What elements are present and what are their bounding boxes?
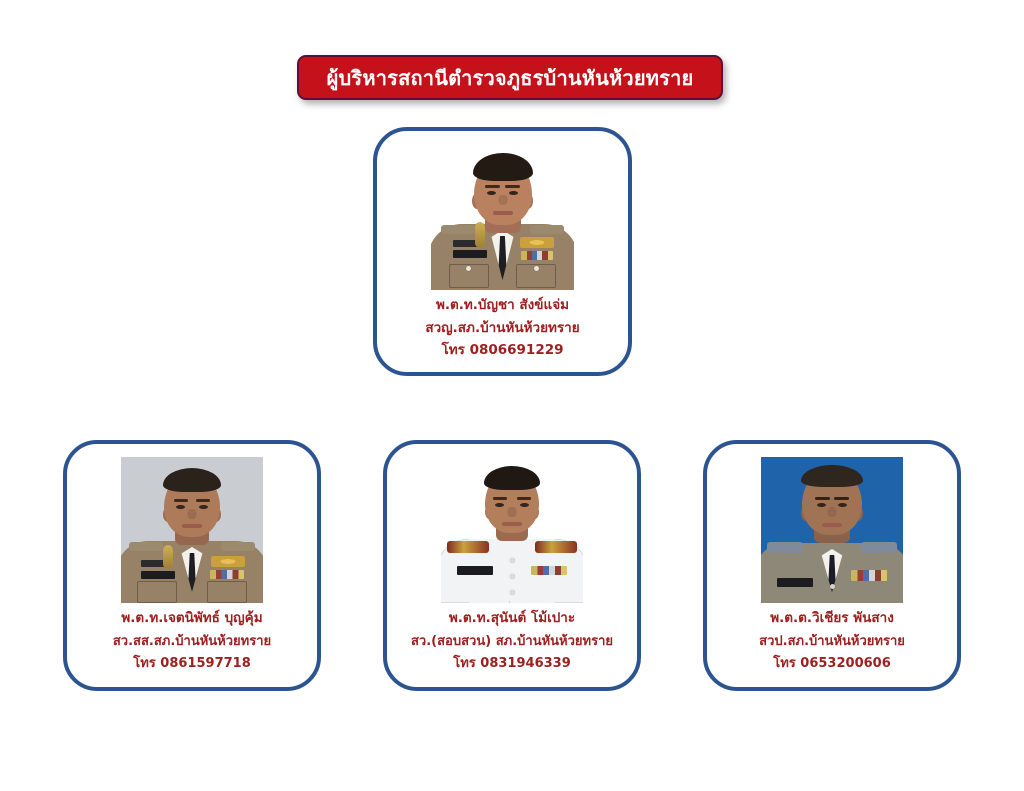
- officer-photo-wichian: [761, 457, 903, 603]
- header-banner: ผู้บริหารสถานีตำรวจภูธรบ้านหันห้วยทราย: [297, 55, 723, 100]
- officer-name: พ.ต.ท.เจตนิพัทธ์ บุญคุ้ม: [67, 612, 317, 626]
- officer-position: สว.(สอบสวน) สภ.บ้านหันห้วยทราย: [387, 635, 637, 648]
- officer-info-bottom-2: พ.ต.ท.สุนันต์ โม้เปาะ สว.(สอบสวน) สภ.บ้า…: [387, 612, 637, 670]
- officer-name: พ.ต.ท.บัญชา สังข์แจ่ม: [377, 299, 628, 313]
- portrait-figure: [431, 141, 574, 290]
- portrait-figure: [761, 457, 903, 603]
- officer-info-bottom-1: พ.ต.ท.เจตนิพัทธ์ บุญคุ้ม สว.สส.สภ.บ้านหั…: [67, 612, 317, 670]
- portrait-figure: [441, 457, 583, 603]
- officer-card-bottom-3[interactable]: พ.ต.ต.วิเชียร พันสาง สวป.สภ.บ้านหันห้วยท…: [703, 440, 961, 691]
- page-title: ผู้บริหารสถานีตำรวจภูธรบ้านหันห้วยทราย: [327, 68, 694, 88]
- officer-photo-banchaa: [431, 141, 574, 290]
- officer-photo-jetniphat: [121, 457, 263, 603]
- officer-name: พ.ต.ท.สุนันต์ โม้เปาะ: [387, 612, 637, 626]
- org-chart-canvas: ผู้บริหารสถานีตำรวจภูธรบ้านหันห้วยทราย: [0, 0, 1024, 791]
- officer-phone: โทร 0806691229: [377, 344, 628, 358]
- officer-photo-sunan: [441, 457, 583, 603]
- officer-phone: โทร 0653200606: [707, 657, 957, 670]
- officer-info-top: พ.ต.ท.บัญชา สังข์แจ่ม สวญ.สภ.บ้านหันห้วย…: [377, 299, 628, 358]
- officer-phone: โทร 0861597718: [67, 657, 317, 670]
- officer-position: สวญ.สภ.บ้านหันห้วยทราย: [377, 322, 628, 336]
- officer-info-bottom-3: พ.ต.ต.วิเชียร พันสาง สวป.สภ.บ้านหันห้วยท…: [707, 612, 957, 670]
- officer-phone: โทร 0831946339: [387, 657, 637, 670]
- officer-position: สวป.สภ.บ้านหันห้วยทราย: [707, 635, 957, 648]
- portrait-figure: [121, 457, 263, 603]
- officer-card-bottom-1[interactable]: พ.ต.ท.เจตนิพัทธ์ บุญคุ้ม สว.สส.สภ.บ้านหั…: [63, 440, 321, 691]
- officer-card-top[interactable]: พ.ต.ท.บัญชา สังข์แจ่ม สวญ.สภ.บ้านหันห้วย…: [373, 127, 632, 376]
- officer-position: สว.สส.สภ.บ้านหันห้วยทราย: [67, 635, 317, 648]
- officer-card-bottom-2[interactable]: พ.ต.ท.สุนันต์ โม้เปาะ สว.(สอบสวน) สภ.บ้า…: [383, 440, 641, 691]
- officer-name: พ.ต.ต.วิเชียร พันสาง: [707, 612, 957, 626]
